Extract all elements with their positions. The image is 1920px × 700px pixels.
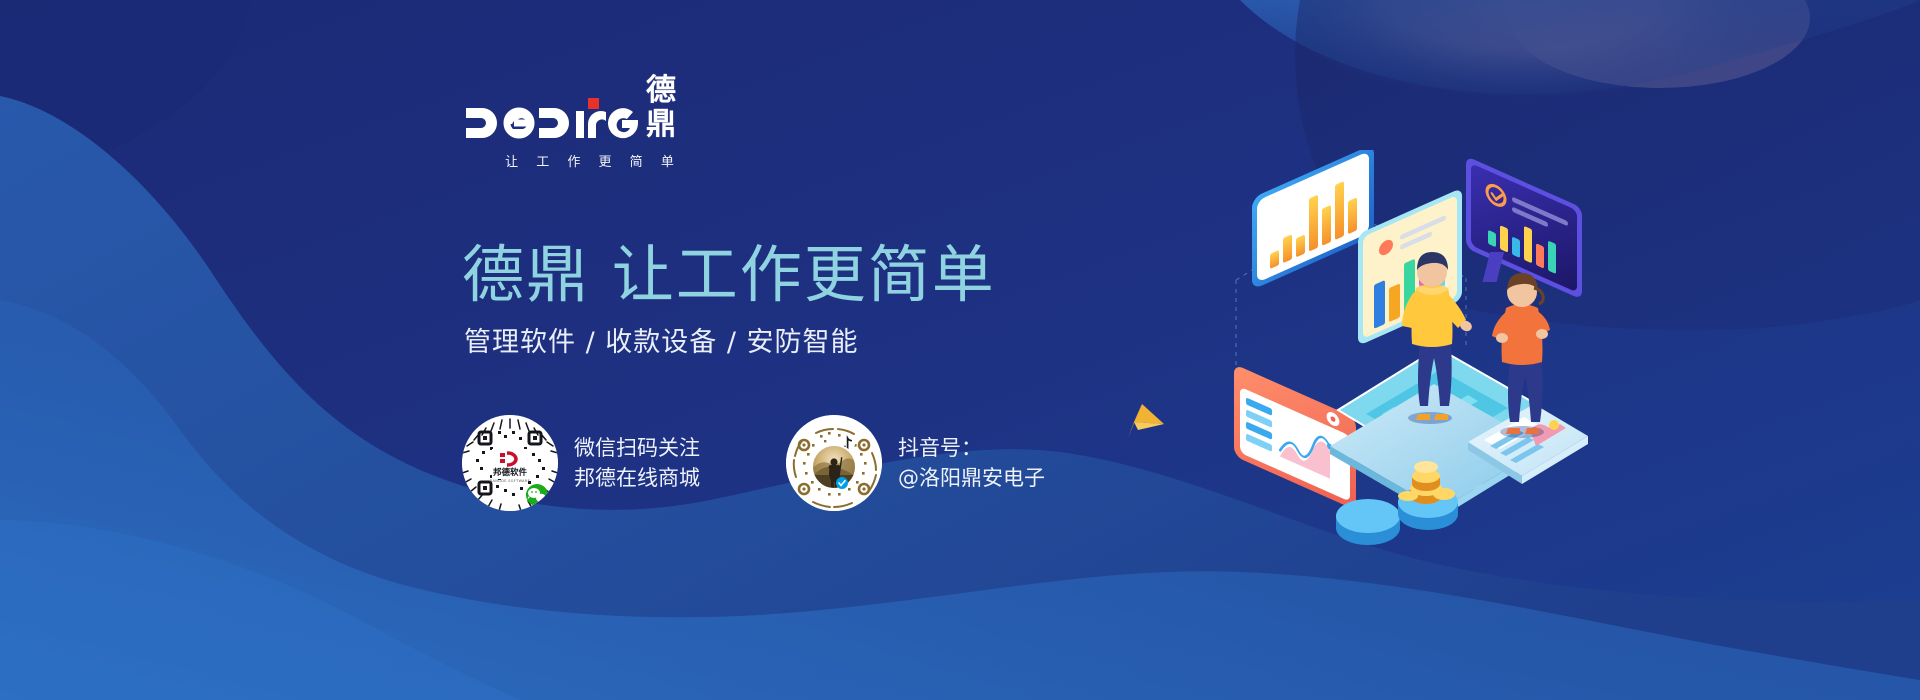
page-subtitle: 管理软件 / 收款设备 / 安防智能	[464, 326, 859, 360]
isometric-illustration-svg	[1230, 150, 1650, 570]
logo-latin-svg	[466, 100, 638, 142]
logo-accent-dot	[588, 98, 599, 109]
svg-text:BANGDE SOFTWARE: BANGDE SOFTWARE	[490, 479, 530, 483]
douyin-verified-badge	[836, 477, 848, 489]
page-title: 德鼎 让工作更简单	[462, 238, 996, 312]
qr-item-wechat[interactable]: 邦德软件 BANGDE SOFTWARE 微信扫	[462, 415, 700, 511]
svg-text:邦德软件: 邦德软件	[493, 467, 528, 478]
qr-item-douyin[interactable]: 抖音号： @洛阳鼎安电子	[786, 415, 1045, 511]
report-card-panel	[1234, 364, 1356, 510]
logo-chinese-name: 德鼎	[646, 74, 696, 142]
logo-wordmark	[466, 100, 638, 142]
douyin-qr-label-line1: 抖音号：	[898, 433, 1045, 463]
qr-code-section: 邦德软件 BANGDE SOFTWARE 微信扫	[462, 415, 1045, 511]
logo-slogan: 让 工 作 更 简 单	[466, 151, 696, 170]
wechat-qr-svg: 邦德软件 BANGDE SOFTWARE	[462, 415, 558, 511]
wechat-qr-label: 微信扫码关注 邦德在线商城	[574, 433, 700, 493]
bar-chart-screen	[1252, 150, 1374, 290]
wechat-qr-code[interactable]: 邦德软件 BANGDE SOFTWARE	[462, 415, 558, 511]
douyin-qr-code[interactable]	[786, 415, 882, 511]
bangde-center-logo: 邦德软件	[492, 449, 528, 479]
wechat-qr-label-line2: 邦德在线商城	[574, 463, 700, 493]
hero-illustration	[1230, 150, 1650, 570]
wechat-badge-icon	[526, 484, 548, 506]
douyin-qr-svg	[786, 415, 882, 511]
paper-plane-svg	[1128, 404, 1164, 438]
promo-banner: 德鼎 让 工 作 更 简 单 德鼎 让工作更简单 管理软件 / 收款设备 / 安…	[0, 0, 1920, 700]
douyin-qr-label: 抖音号： @洛阳鼎安电子	[898, 433, 1045, 493]
paper-plane-icon	[1128, 404, 1164, 438]
brand-logo[interactable]: 德鼎 让 工 作 更 简 单	[466, 100, 696, 170]
douyin-qr-label-line2: @洛阳鼎安电子	[898, 463, 1045, 493]
logo-row: 德鼎	[466, 100, 696, 142]
wechat-qr-label-line1: 微信扫码关注	[574, 433, 700, 463]
